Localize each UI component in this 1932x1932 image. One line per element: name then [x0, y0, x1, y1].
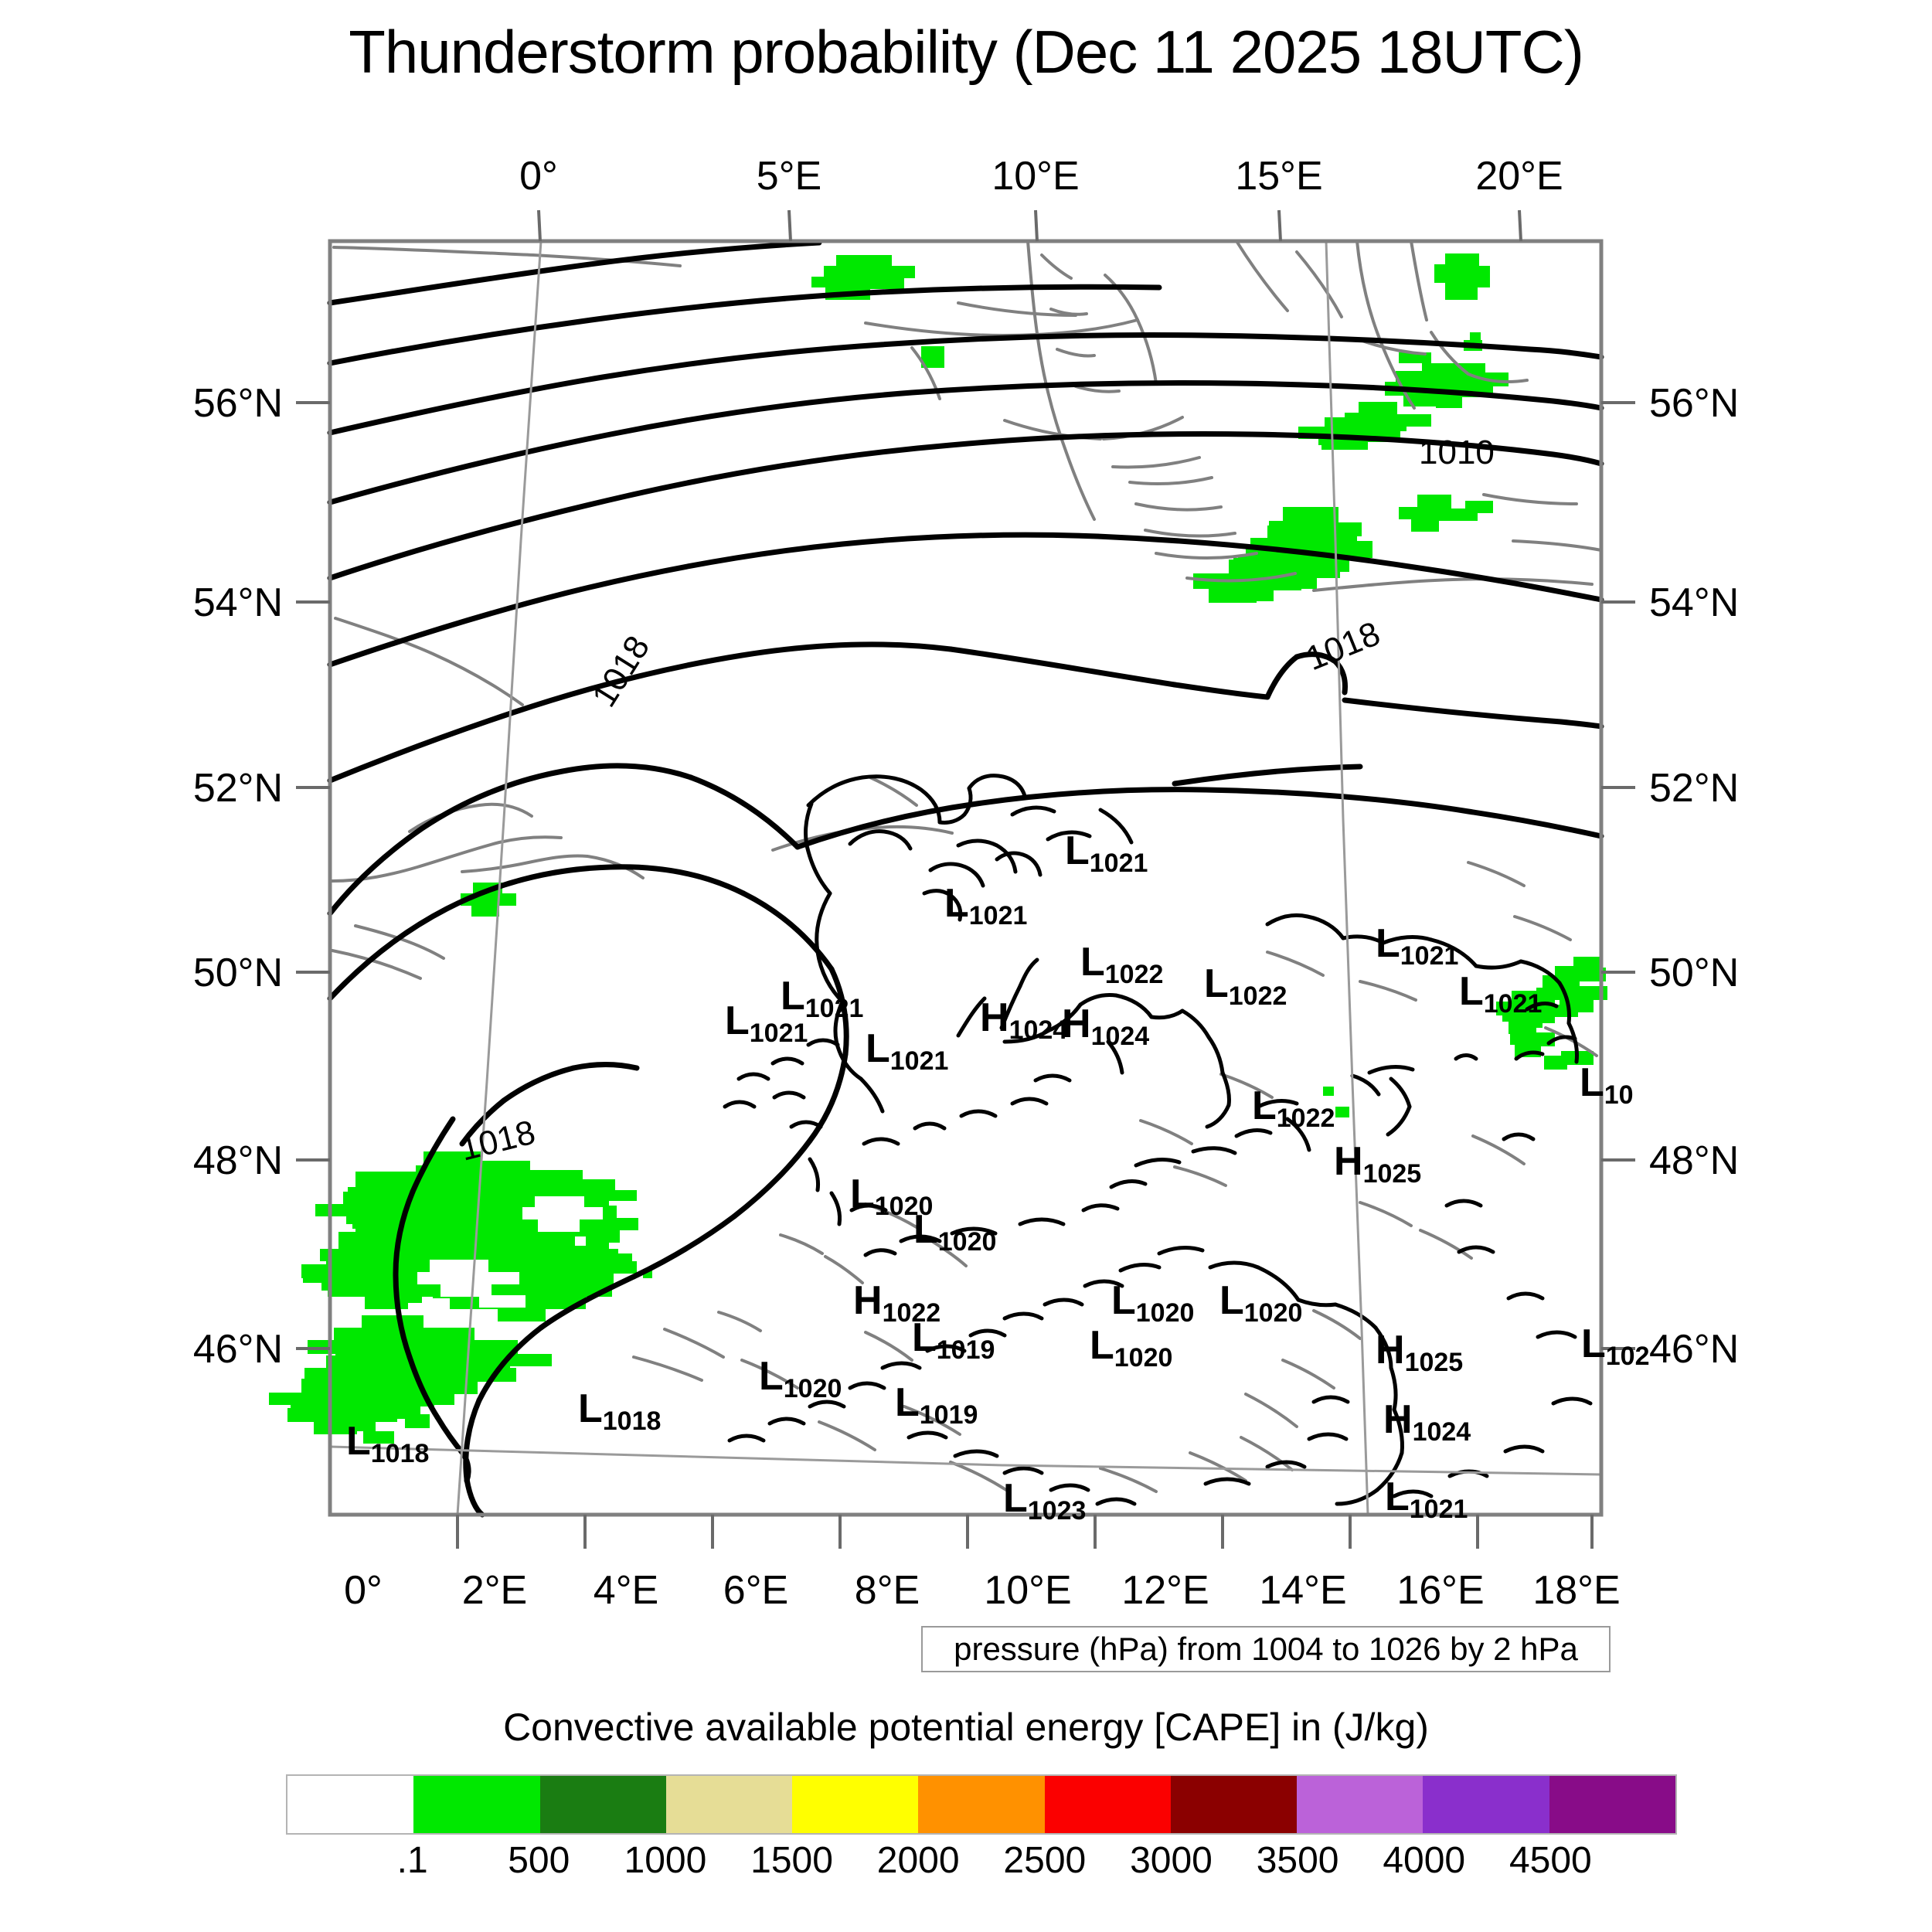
pressure-center-value: 1021 — [805, 994, 864, 1023]
pressure-center-low: L1020 — [1219, 1278, 1302, 1328]
pressure-center-low: L1021 — [944, 881, 1027, 930]
pressure-center-value: 1020 — [938, 1227, 997, 1257]
pressure-center-value: 1024 — [1091, 1022, 1150, 1051]
pressure-center-low: L1019 — [912, 1315, 995, 1365]
pressure-center-low: L10 — [1580, 1060, 1634, 1110]
right-axis-tick-labels: 56°N 54°N 52°N 50°N 48°N 46°N — [1649, 381, 1739, 1372]
pressure-center-low: L1020 — [1090, 1323, 1172, 1372]
pressure-center-value: 1022 — [1105, 960, 1164, 989]
isobar-label: 1018 — [585, 629, 657, 713]
bottom-tick-label: 14°E — [1259, 1568, 1346, 1613]
pressure-center-value: 1021 — [1400, 941, 1459, 971]
pressure-center-low: L1020 — [1111, 1278, 1194, 1328]
colorbar: .150010001500200025003000350040004500 — [286, 1774, 1677, 1906]
pressure-center-high: H1025 — [1376, 1328, 1463, 1377]
colorbar-swatch-5 — [918, 1776, 1044, 1833]
pressure-center-low: L1021 — [866, 1026, 948, 1076]
pressure-center-value: 1018 — [603, 1406, 662, 1436]
pressure-center-low: L1022 — [1080, 940, 1163, 989]
pressure-center-value: 1023 — [1028, 1496, 1087, 1526]
colorbar-tick-label: 3500 — [1257, 1839, 1339, 1882]
colorbar-tick-label: 500 — [508, 1839, 570, 1882]
pressure-center-low: L1023 — [1003, 1476, 1086, 1526]
pressure-center-value: 1024 — [1413, 1417, 1471, 1447]
right-tick-label: 48°N — [1649, 1138, 1739, 1183]
colorbar-swatch-6 — [1045, 1776, 1171, 1833]
pressure-center-low: L1021 — [1376, 921, 1458, 971]
colorbar-swatch-10 — [1549, 1776, 1675, 1833]
colorbar-swatches — [286, 1774, 1677, 1835]
colorbar-swatch-8 — [1297, 1776, 1423, 1833]
pressure-center-low: L1022 — [1252, 1083, 1335, 1133]
pressure-center-value: 1025 — [1363, 1159, 1422, 1189]
pressure-center-low: L102 — [1581, 1321, 1650, 1371]
colorbar-tick-label: 2500 — [1003, 1839, 1086, 1882]
right-tick-label: 52°N — [1649, 766, 1739, 811]
left-tick-label: 48°N — [193, 1138, 283, 1183]
colorbar-tick-label: 1500 — [750, 1839, 833, 1882]
top-axis-tick-labels: 0° 5°E 10°E 15°E 20°E — [519, 154, 1563, 199]
left-tick-label: 50°N — [193, 951, 283, 995]
pressure-center-value: 102 — [1606, 1342, 1650, 1371]
pressure-center-low: L1021 — [781, 974, 863, 1023]
left-tick-label: 46°N — [193, 1327, 283, 1372]
colorbar-title: Convective available potential energy [C… — [0, 1705, 1932, 1750]
pressure-center-value: 1024 — [1009, 1015, 1068, 1045]
colorbar-swatch-9 — [1423, 1776, 1549, 1833]
pressure-center-value: 1019 — [937, 1335, 995, 1365]
pressure-center-low: L1020 — [913, 1207, 996, 1257]
isobar-label: 1018 — [457, 1113, 539, 1168]
pressure-center-value: 1021 — [969, 901, 1028, 930]
colorbar-tick-label: 4000 — [1383, 1839, 1465, 1882]
right-tick-label: 56°N — [1649, 381, 1739, 426]
pressure-center-low: L1021 — [1065, 828, 1148, 878]
pressure-center-value: 1021 — [1484, 989, 1543, 1019]
right-tick-label: 46°N — [1649, 1327, 1739, 1372]
top-tick-label: 0° — [519, 154, 558, 199]
pressure-center-value: 1020 — [1114, 1343, 1173, 1372]
pressure-legend-box: pressure (hPa) from 1004 to 1026 by 2 hP… — [921, 1626, 1611, 1672]
bottom-axis-tick-labels: 0° 2°E 4°E 6°E 8°E 10°E 12°E 14°E 16°E 1… — [344, 1568, 1621, 1613]
colorbar-swatch-4 — [792, 1776, 918, 1833]
pressure-center-low: L1020 — [759, 1354, 842, 1403]
pressure-center-value: 1022 — [1229, 981, 1287, 1011]
colorbar-tick-label: 1000 — [624, 1839, 707, 1882]
pressure-center-high: H1024 — [1383, 1397, 1471, 1447]
right-tick-label: 50°N — [1649, 951, 1739, 995]
colorbar-swatch-0 — [287, 1776, 413, 1833]
colorbar-swatch-3 — [666, 1776, 792, 1833]
pressure-center-low: L1021 — [1385, 1475, 1468, 1524]
colorbar-tick-labels: .150010001500200025003000350040004500 — [286, 1835, 1677, 1889]
pressure-center-value: 1021 — [1410, 1495, 1468, 1524]
left-tick-label: 54°N — [193, 580, 283, 625]
pressure-center-low: L1021 — [1459, 969, 1542, 1019]
left-axis-tick-labels: 56°N 54°N 52°N 50°N 48°N 46°N — [193, 381, 283, 1372]
pressure-center-low: L1019 — [895, 1380, 978, 1430]
isobars — [330, 243, 1601, 1515]
pressure-legend-text: pressure (hPa) from 1004 to 1026 by 2 hP… — [954, 1631, 1578, 1668]
bottom-tick-label: 16°E — [1396, 1568, 1484, 1613]
left-tick-label: 56°N — [193, 381, 283, 426]
bottom-tick-label: 6°E — [723, 1568, 788, 1613]
colorbar-tick-label: 2000 — [877, 1839, 960, 1882]
colorbar-swatch-1 — [413, 1776, 539, 1833]
pressure-center-value: 1020 — [784, 1374, 842, 1403]
pressure-center-low: L1022 — [1204, 961, 1287, 1011]
colorbar-swatch-2 — [540, 1776, 666, 1833]
colorbar-swatch-7 — [1171, 1776, 1297, 1833]
top-tick-label: 20°E — [1475, 154, 1563, 199]
left-tick-label: 52°N — [193, 766, 283, 811]
top-tick-label: 10°E — [992, 154, 1079, 199]
pressure-center-value: 1020 — [1136, 1298, 1195, 1328]
bottom-tick-label: 18°E — [1532, 1568, 1620, 1613]
pressure-center-high: H1024 — [980, 995, 1067, 1045]
pressure-center-value: 1022 — [1277, 1104, 1335, 1133]
thunderstorm-probability-map-page: Thunderstorm probability (Dec 11 2025 18… — [0, 0, 1932, 1932]
pressure-center-high: H1024 — [1062, 1002, 1149, 1051]
colorbar-tick-label: 3000 — [1130, 1839, 1213, 1882]
bottom-tick-label: 8°E — [855, 1568, 920, 1613]
top-tick-label: 15°E — [1235, 154, 1322, 199]
zero-contours — [725, 776, 1590, 1504]
bottom-tick-label: 2°E — [462, 1568, 527, 1613]
pressure-center-low: L1018 — [578, 1386, 661, 1436]
right-tick-label: 54°N — [1649, 580, 1739, 625]
colorbar-tick-label: .1 — [397, 1839, 428, 1882]
bottom-tick-label: 0° — [344, 1568, 383, 1613]
pressure-center-value: 1021 — [890, 1046, 949, 1076]
pressure-center-high: H1025 — [1334, 1139, 1421, 1189]
pressure-center-value: 10 — [1604, 1080, 1634, 1110]
colorbar-tick-label: 4500 — [1509, 1839, 1592, 1882]
pressure-center-value: 1025 — [1405, 1348, 1464, 1377]
pressure-center-value: 1020 — [1244, 1298, 1303, 1328]
pressure-center-value: 1021 — [1090, 849, 1148, 878]
top-tick-label: 5°E — [757, 154, 821, 199]
pressure-center-value: 1018 — [371, 1439, 430, 1468]
bottom-tick-label: 12°E — [1121, 1568, 1209, 1613]
pressure-center-value: 1019 — [920, 1400, 978, 1430]
isobar-label: 1010 — [1419, 434, 1495, 471]
pressure-center-value: 1021 — [750, 1019, 808, 1048]
bottom-tick-label: 4°E — [594, 1568, 658, 1613]
bottom-tick-label: 10°E — [984, 1568, 1071, 1613]
